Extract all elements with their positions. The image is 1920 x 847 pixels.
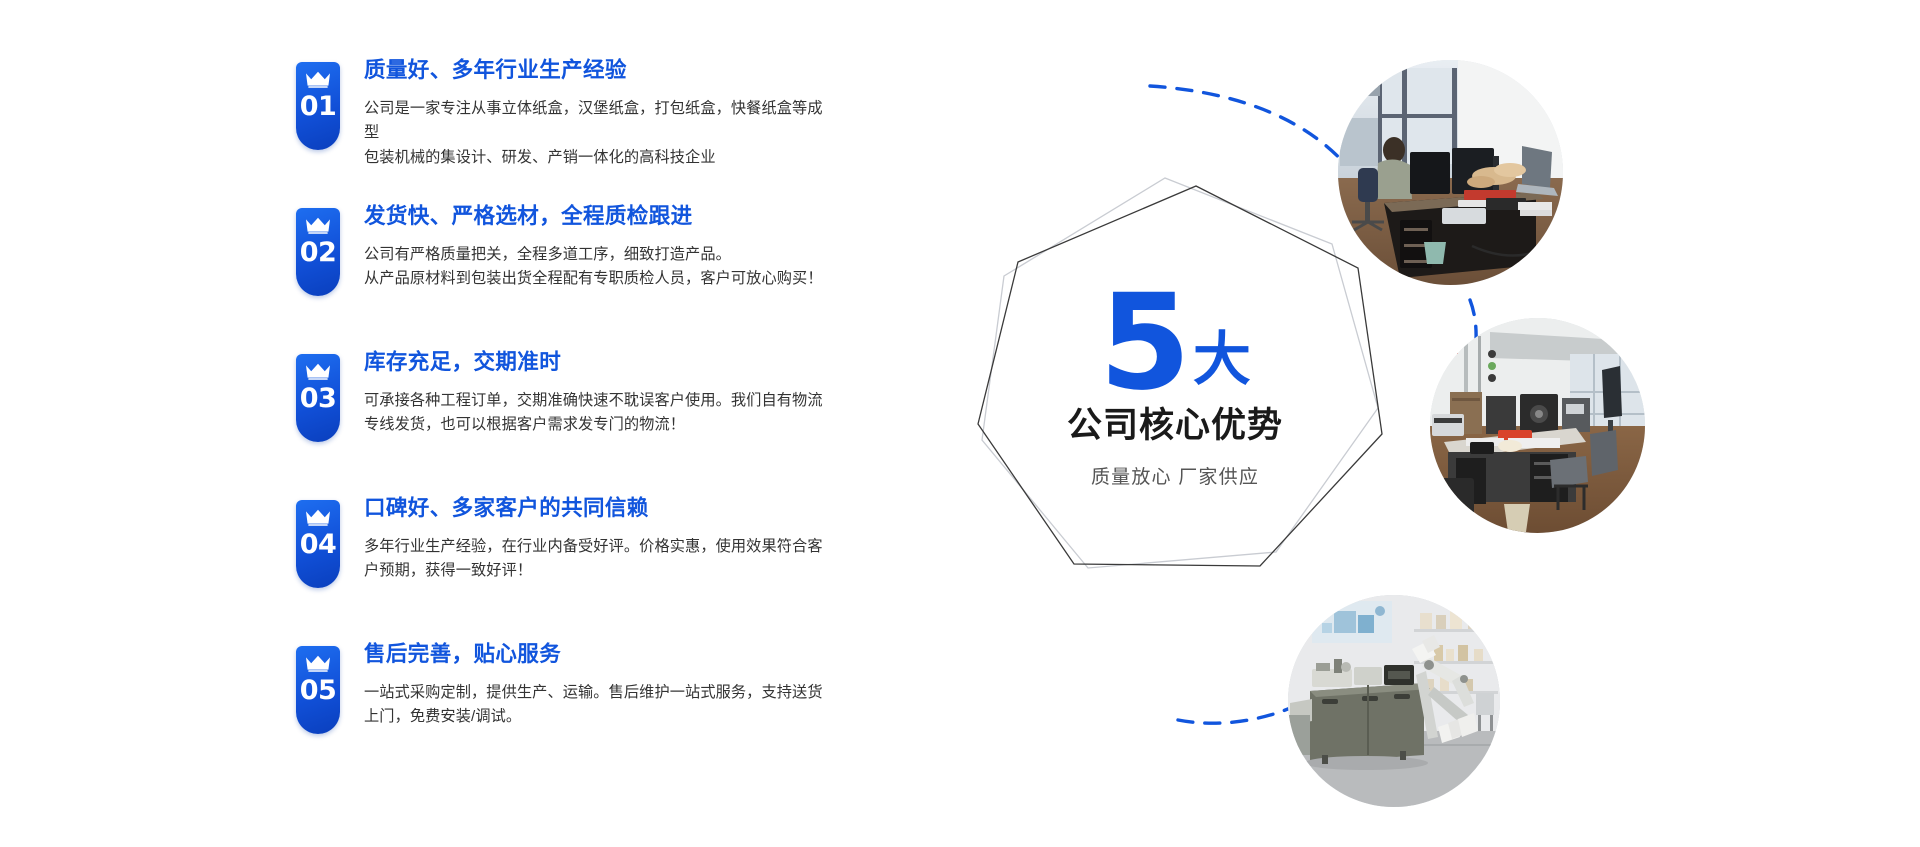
core-advantages-hub: 5 大 公司核心优势 质量放心 厂家供应 — [960, 172, 1390, 602]
feature-title: 质量好、多年行业生产经验 — [364, 58, 916, 84]
advantages-banner: 01 质量好、多年行业生产经验 公司是一家专注从事立体纸盒，汉堡纸盒，打包纸盒，… — [0, 0, 1920, 847]
feature-item[interactable]: 01 质量好、多年行业生产经验 公司是一家专注从事立体纸盒，汉堡纸盒，打包纸盒，… — [296, 56, 916, 178]
feature-number: 02 — [300, 239, 337, 266]
feature-badge: 03 — [296, 354, 340, 442]
photo-packaging-machine[interactable] — [1288, 595, 1500, 807]
crown-icon — [305, 655, 331, 672]
feature-description-line: 多年行业生产经验，在行业内备受好评。价格实惠，使用效果符合客 — [364, 535, 834, 560]
feature-description-line: 上门，免费安装/调试。 — [364, 705, 834, 730]
feature-title: 发货快、严格选材，全程质检跟进 — [364, 204, 916, 230]
hub-big-number: 5 — [1099, 285, 1189, 401]
photo-office-desks[interactable] — [1430, 318, 1645, 533]
feature-number: 04 — [300, 531, 337, 558]
feature-title: 口碑好、多家客户的共同信赖 — [364, 496, 916, 522]
feature-description-line: 公司有严格质量把关，全程多道工序，细致打造产品。 — [364, 243, 834, 268]
feature-title: 库存充足，交期准时 — [364, 350, 916, 376]
feature-item[interactable]: 05 售后完善，贴心服务 一站式采购定制，提供生产、运输。售后维护一站式服务，支… — [296, 640, 916, 762]
crown-icon — [305, 363, 331, 380]
connector-arc-top — [1150, 86, 1352, 172]
crown-icon — [305, 217, 331, 234]
feature-description-line: 户预期，获得一致好评！ — [364, 559, 834, 584]
photo-office-desks-image — [1430, 318, 1645, 533]
feature-description: 多年行业生产经验，在行业内备受好评。价格实惠，使用效果符合客 户预期，获得一致好… — [364, 535, 834, 584]
hub-text-block: 5 大 公司核心优势 质量放心 厂家供应 — [960, 172, 1390, 602]
feature-number: 03 — [300, 385, 337, 412]
feature-number: 01 — [300, 93, 337, 120]
crown-icon — [305, 509, 331, 526]
feature-text: 发货快、严格选材，全程质检跟进 公司有严格质量把关，全程多道工序，细致打造产品。… — [364, 202, 916, 292]
feature-description-line: 一站式采购定制，提供生产、运输。售后维护一站式服务，支持送货 — [364, 681, 834, 706]
feature-text: 口碑好、多家客户的共同信赖 多年行业生产经验，在行业内备受好评。价格实惠，使用效… — [364, 494, 916, 584]
feature-badge: 02 — [296, 208, 340, 296]
hub-main-label: 公司核心优势 — [1067, 397, 1283, 448]
feature-description-line: 包装机械的集设计、研发、产销一体化的高科技企业 — [364, 146, 834, 171]
feature-badge: 04 — [296, 500, 340, 588]
feature-description: 一站式采购定制，提供生产、运输。售后维护一站式服务，支持送货 上门，免费安装/调… — [364, 681, 834, 730]
photo-office-workstation[interactable] — [1338, 60, 1563, 285]
feature-title: 售后完善，贴心服务 — [364, 642, 916, 668]
feature-text: 库存充足，交期准时 可承接各种工程订单，交期准确快速不耽误客户使用。我们自有物流… — [364, 348, 916, 438]
feature-description-line: 可承接各种工程订单，交期准确快速不耽误客户使用。我们自有物流 — [364, 389, 834, 414]
hub-big-unit: 大 — [1193, 331, 1251, 389]
feature-list: 01 质量好、多年行业生产经验 公司是一家专注从事立体纸盒，汉堡纸盒，打包纸盒，… — [296, 56, 916, 796]
feature-badge: 05 — [296, 646, 340, 734]
feature-description-line: 从产品原材料到包装出货全程配有专职质检人员，客户可放心购买！ — [364, 267, 834, 292]
feature-badge: 01 — [296, 62, 340, 150]
feature-item[interactable]: 03 库存充足，交期准时 可承接各种工程订单，交期准确快速不耽误客户使用。我们自… — [296, 348, 916, 470]
feature-text: 质量好、多年行业生产经验 公司是一家专注从事立体纸盒，汉堡纸盒，打包纸盒，快餐纸… — [364, 56, 916, 171]
hub-big-row: 5 大 — [1099, 285, 1251, 401]
feature-description-line: 专线发货，也可以根据客户需求发专门的物流！ — [364, 413, 834, 438]
photo-packaging-machine-image — [1288, 595, 1500, 807]
hub-sub-label: 质量放心 厂家供应 — [1091, 462, 1259, 489]
feature-item[interactable]: 04 口碑好、多家客户的共同信赖 多年行业生产经验，在行业内备受好评。价格实惠，… — [296, 494, 916, 616]
feature-text: 售后完善，贴心服务 一站式采购定制，提供生产、运输。售后维护一站式服务，支持送货… — [364, 640, 916, 730]
feature-number: 05 — [300, 677, 337, 704]
feature-description-line: 公司是一家专注从事立体纸盒，汉堡纸盒，打包纸盒，快餐纸盒等成型 — [364, 97, 834, 146]
feature-description: 公司有严格质量把关，全程多道工序，细致打造产品。 从产品原材料到包装出货全程配有… — [364, 243, 834, 292]
crown-icon — [305, 71, 331, 88]
feature-description: 公司是一家专注从事立体纸盒，汉堡纸盒，打包纸盒，快餐纸盒等成型 包装机械的集设计… — [364, 97, 834, 171]
photo-office-workstation-image — [1338, 60, 1563, 285]
feature-item[interactable]: 02 发货快、严格选材，全程质检跟进 公司有严格质量把关，全程多道工序，细致打造… — [296, 202, 916, 324]
feature-description: 可承接各种工程订单，交期准确快速不耽误客户使用。我们自有物流 专线发货，也可以根… — [364, 389, 834, 438]
